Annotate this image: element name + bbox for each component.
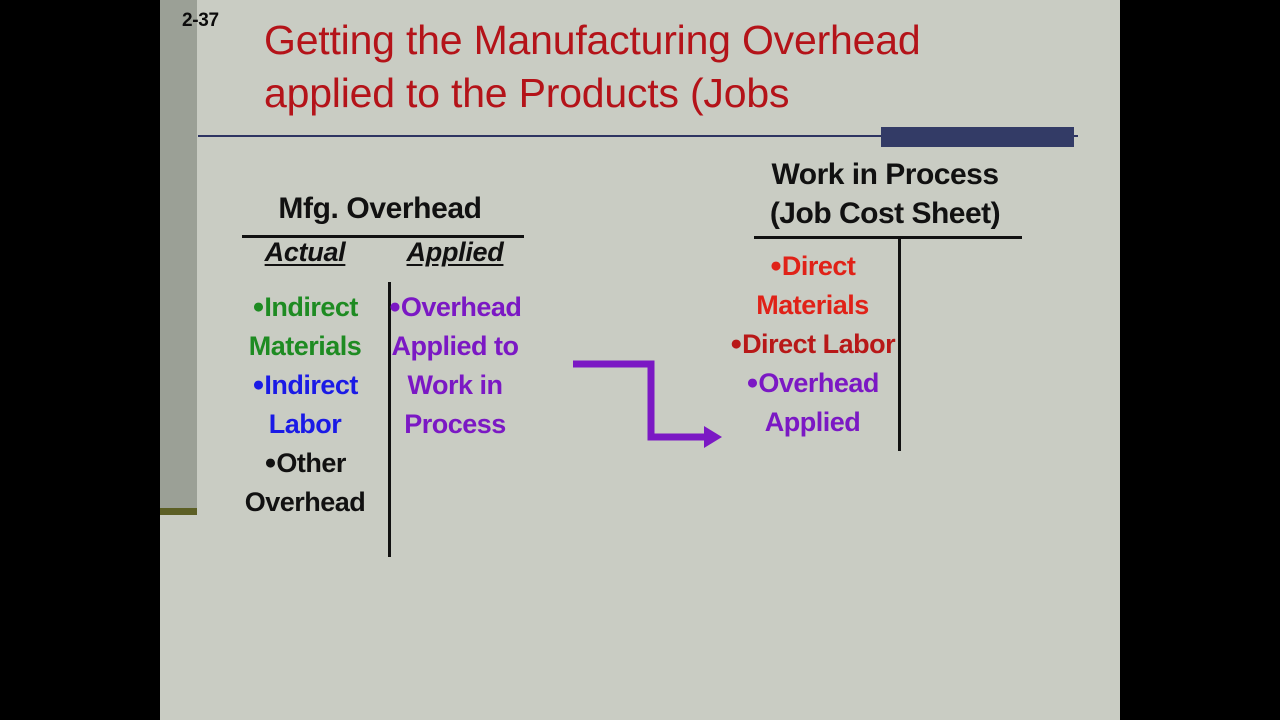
letterbox-right xyxy=(1120,0,1280,720)
slide-sidebar-accent-bar xyxy=(160,508,197,515)
slide-title-line-2: applied to the Products (Jobs xyxy=(264,67,1044,120)
applied-entry-list: ●Overhead Applied to Work in Process xyxy=(380,288,530,444)
entry-overhead-applied-to-wip: ●Overhead Applied to Work in Process xyxy=(380,288,530,444)
entry-label: Direct Labor xyxy=(742,329,895,359)
entry-direct-materials: ●Direct Materials xyxy=(725,247,900,325)
entry-overhead-applied: ●Overhead Applied xyxy=(725,364,900,442)
actual-entry-list: ●Indirect Materials ●Indirect Labor ●Oth… xyxy=(230,288,380,522)
overhead-applied-arrow-icon xyxy=(565,350,725,455)
mfg-overhead-actual-column: Actual ●Indirect Materials ●Indirect Lab… xyxy=(230,237,380,522)
work-in-process-entry-list: ●Direct Materials ●Direct Labor ●Overhea… xyxy=(725,247,900,442)
slide-title-line-1: Getting the Manufacturing Overhead xyxy=(264,14,1044,67)
mfg-overhead-applied-column: Applied ●Overhead Applied to Work in Pro… xyxy=(380,237,530,522)
entry-direct-labor: ●Direct Labor xyxy=(725,325,900,364)
entry-label: Overhead Applied to Work in Process xyxy=(392,292,522,439)
bullet-icon: ● xyxy=(252,295,264,318)
arrow-elbow-path xyxy=(573,364,709,437)
entry-label: Indirect Materials xyxy=(249,292,362,361)
entry-other-overhead: ●Other Overhead xyxy=(230,444,380,522)
bullet-icon: ● xyxy=(746,371,758,394)
column-header-actual: Actual xyxy=(230,237,380,268)
presentation-slide: 2-37 Getting the Manufacturing Overhead … xyxy=(160,0,1120,720)
work-in-process-title-rule xyxy=(754,236,1022,239)
arrow-head xyxy=(704,426,722,448)
entry-indirect-materials: ●Indirect Materials xyxy=(230,288,380,366)
bullet-icon: ● xyxy=(770,254,782,277)
screenshot-root: 2-37 Getting the Manufacturing Overhead … xyxy=(0,0,1280,720)
entry-indirect-labor: ●Indirect Labor xyxy=(230,366,380,444)
wip-title-line-1: Work in Process xyxy=(725,155,1045,194)
bullet-icon: ● xyxy=(730,332,742,355)
title-accent-block xyxy=(881,127,1074,147)
mfg-overhead-columns: Actual ●Indirect Materials ●Indirect Lab… xyxy=(230,237,530,522)
slide-title: Getting the Manufacturing Overhead appli… xyxy=(264,14,1044,120)
mfg-overhead-title: Mfg. Overhead xyxy=(230,192,530,228)
column-header-applied: Applied xyxy=(380,237,530,268)
letterbox-left xyxy=(0,0,160,720)
wip-title-line-2: (Job Cost Sheet) xyxy=(725,194,1045,233)
entry-label: Overhead Applied xyxy=(758,368,879,437)
slide-sidebar-strip xyxy=(160,0,197,509)
mfg-overhead-vertical-rule xyxy=(388,282,391,557)
entry-label: Indirect Labor xyxy=(264,370,358,439)
work-in-process-t-account: Work in Process (Job Cost Sheet) ●Direct… xyxy=(725,155,1045,233)
bullet-icon: ● xyxy=(252,373,264,396)
mfg-overhead-t-account: Mfg. Overhead Actual ●Indirect Materials… xyxy=(230,192,530,522)
entry-label: Other Overhead xyxy=(245,448,366,517)
work-in-process-title: Work in Process (Job Cost Sheet) xyxy=(725,155,1045,233)
slide-number: 2-37 xyxy=(182,10,219,32)
bullet-icon: ● xyxy=(389,295,401,318)
bullet-icon: ● xyxy=(264,451,276,474)
